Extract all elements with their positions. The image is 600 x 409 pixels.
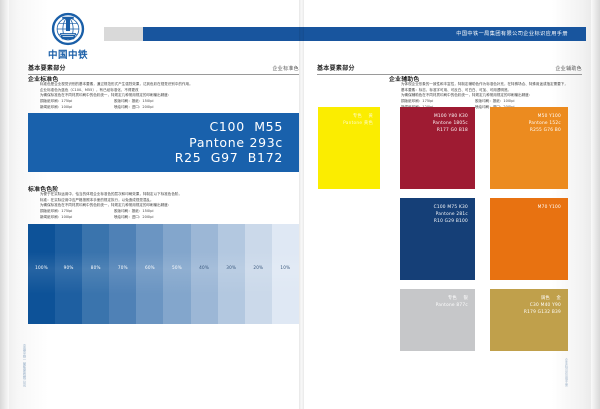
swatch-spec-line: Pantone 281c [436, 211, 468, 218]
tint-step-label: 100% [28, 265, 55, 270]
tint-step-20: 20% [245, 224, 272, 324]
tint-step-label: 20% [245, 265, 272, 270]
spec-cell: 新闻纸印刷：100lpi [40, 105, 114, 111]
spec-row: 新闻纸印刷：100lpi 喷绘印刷：进口：200lpi [28, 215, 299, 221]
swatch-spec-line: R10 G29 B100 [434, 218, 468, 225]
header-title-bar: 中国中铁一局集团有限公司企业标识应用手册 [143, 27, 586, 41]
swatch-spec-line: C30 M40 Y90 [530, 302, 561, 309]
tint-step-label: 80% [82, 265, 109, 270]
left-section-label: 企业标准色 [272, 65, 299, 72]
swatch-spec-line: Pantone 152c [529, 120, 561, 127]
right-margin-vertical-text: 企业标识应用手册 [564, 358, 569, 387]
right-section-title: 基本要素部分 [317, 63, 355, 72]
tint-step-label: 10% [272, 265, 299, 270]
tint-step-50: 50% [163, 224, 190, 324]
page-left: 中国中铁 基本要素部分 企业标准色 企业标准色 标准色是企业视觉识别的基本要素，… [9, 0, 299, 409]
tint-step-label: 60% [136, 265, 163, 270]
brand-logo: 中国中铁 [37, 12, 99, 61]
swatch-spec-line: R179 G132 B39 [524, 309, 561, 316]
swatch-spec-line: 调色 金 [541, 295, 561, 302]
spec-row: 新闻纸印刷：100lpi 喷绘印刷：进口：200lpi [28, 105, 299, 111]
left-margin-vertical-text: 中国中铁一局集团有限公司 [22, 344, 27, 387]
left-section-header: 基本要素部分 企业标准色 [28, 63, 299, 75]
spec-cell: 新闻纸印刷：100lpi [40, 215, 114, 221]
swatch-spec-line: Pantone 黄色 [343, 120, 373, 127]
swatch-spec-line: M100 Y80 K30 [434, 113, 468, 120]
swatch-navy: C100 M75 K30Pantone 281cR10 G29 B100 [400, 198, 475, 280]
primary-pantone: Pantone 293c [189, 135, 283, 151]
tint-step-label: 50% [163, 265, 190, 270]
left-section-title: 基本要素部分 [28, 63, 66, 72]
tint-step-label: 30% [218, 265, 245, 270]
logo-wordmark: 中国中铁 [37, 47, 99, 61]
swatch-spec-line: M70 Y100 [538, 204, 561, 211]
primary-color-swatch: C100 M55 Pantone 293c R25 G97 B172 [28, 113, 299, 172]
tint-step-60: 60% [136, 224, 163, 324]
page-right: 基本要素部分 企业辅助色 企业辅助色 为体现企业形象的一致性和丰富性，特制定辅助… [304, 0, 591, 409]
swatch-orange-deep: M70 Y100 [490, 198, 568, 280]
vi-manual-spread: 中国中铁 基本要素部分 企业标准色 企业标准色 标准色是企业视觉识别的基本要素，… [0, 0, 600, 409]
tint-step-label: 90% [55, 265, 82, 270]
right-section-header: 基本要素部分 企业辅助色 [317, 63, 582, 75]
tint-step-100: 100% [28, 224, 55, 324]
swatch-spec-line: Pantone 877c [436, 302, 468, 309]
spread-gutter [299, 0, 304, 409]
swatch-spec-line: 专色 银 [448, 295, 468, 302]
swatch-silver: 专色 银Pantone 877c [400, 289, 475, 351]
standard-color-body: 标准色是企业视觉识别的基本要素，通过规范形式产生强烈效果，达到色彩在视觉识别中的… [28, 82, 299, 110]
page-edge-right [591, 0, 600, 409]
china-railway-logo-icon [51, 12, 85, 46]
tint-ramp: 100%90%80%70%60%50%40%30%20%10% [28, 224, 299, 324]
tint-step-70: 70% [109, 224, 136, 324]
tint-ramp-body: 为便于在实际运用中，恰当的体现企业标准色的层次和印刷效果，特制定以下标准色色阶。… [28, 192, 299, 220]
spec-cell: 喷绘印刷：进口：200lpi [114, 215, 154, 221]
swatch-spec-line: Pantone 1805c [433, 120, 468, 127]
swatch-spec-line: C100 M75 K30 [434, 204, 468, 211]
swatch-spec-line: 专色 黄 [353, 113, 373, 120]
swatch-crimson: M100 Y80 K30Pantone 1805cR177 G0 B18 [400, 107, 475, 189]
tint-step-40: 40% [191, 224, 218, 324]
swatch-gold: 调色 金C30 M40 Y90R179 G132 B39 [490, 289, 568, 351]
primary-cmyk: C100 M55 [209, 119, 283, 135]
body-line: 为体现企业形象的一致性和丰富性，特制定辅助色作为标准色补充，在特殊场合、特殊用途… [389, 82, 589, 88]
swatch-orange-light: M50 Y100Pantone 152cR255 G76 B0 [490, 107, 568, 189]
tint-step-label: 70% [109, 265, 136, 270]
tint-step-90: 90% [55, 224, 82, 324]
tint-step-label: 40% [191, 265, 218, 270]
right-section-label: 企业辅助色 [555, 65, 582, 72]
tint-step-10: 10% [272, 224, 299, 324]
page-edge-left [0, 0, 9, 409]
spec-cell: 喷绘印刷：进口：200lpi [114, 105, 154, 111]
swatch-spec-line: R255 G76 B0 [530, 127, 561, 134]
tint-step-30: 30% [218, 224, 245, 324]
swatch-yellow: 专色 黄Pantone 黄色 [318, 107, 380, 189]
swatch-spec-line: R177 G0 B18 [437, 127, 468, 134]
swatch-spec-line: M50 Y100 [538, 113, 561, 120]
primary-rgb: R25 G97 B172 [175, 150, 283, 166]
tint-step-80: 80% [82, 224, 109, 324]
